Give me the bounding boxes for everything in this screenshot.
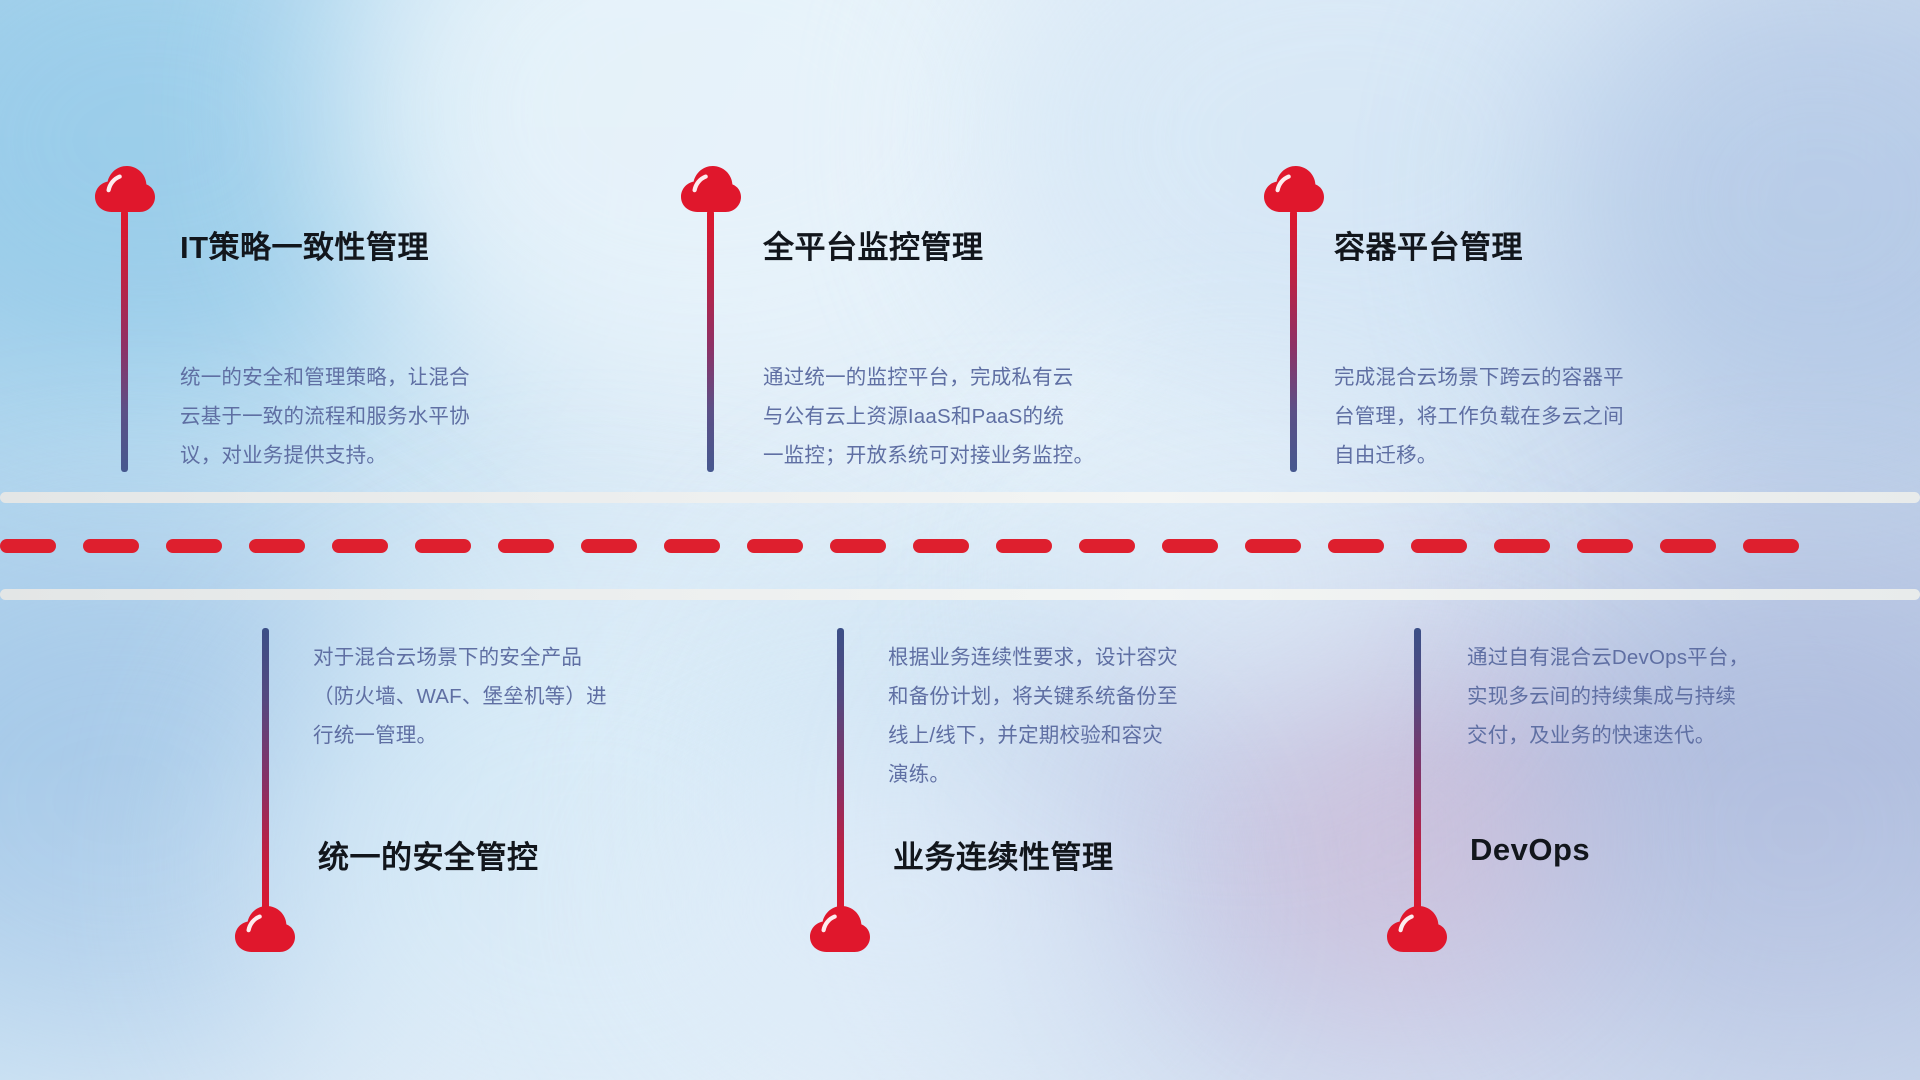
cloud-icon — [234, 905, 296, 953]
road-dash-segment — [1411, 539, 1467, 553]
road-dash-segment — [664, 539, 720, 553]
road-dash-segment — [498, 539, 554, 553]
road-dash-segment — [415, 539, 471, 553]
road-edge-top — [0, 492, 1920, 503]
bottom-item-2: 根据业务连续性要求，设计容灾 和备份计划，将关键系统备份至 线上/线下，并定期校… — [640, 600, 1280, 1080]
top-item-1: IT策略一致性管理 统一的安全和管理策略，让混合 云基于一致的流程和服务水平协 … — [0, 0, 640, 492]
road-dash-segment — [581, 539, 637, 553]
road-edge-bottom — [0, 589, 1920, 600]
bottom-item-3: 通过自有混合云DevOps平台， 实现多云间的持续集成与持续 交付，及业务的快速… — [1220, 600, 1920, 1080]
bottom-item-1-heading: 统一的安全管控 — [318, 832, 539, 877]
top-item-2-body: 通过统一的监控平台，完成私有云 与公有云上资源IaaS和PaaS的统 一监控；开… — [763, 358, 1213, 475]
road-dash-segment — [249, 539, 305, 553]
top-item-2-heading: 全平台监控管理 — [763, 222, 984, 267]
road-dash-segment — [1079, 539, 1135, 553]
road-divider — [0, 492, 1920, 600]
bottom-item-1: 对于混合云场景下的安全产品 （防火墙、WAF、堡垒机等）进 行统一管理。 统一的… — [0, 600, 640, 1080]
road-dash-segment — [1743, 539, 1799, 553]
road-dashed-line — [0, 539, 1920, 553]
road-dash-segment — [0, 539, 56, 553]
connector-stem — [837, 628, 844, 922]
road-dash-segment — [83, 539, 139, 553]
bottom-item-3-heading: DevOps — [1470, 832, 1590, 868]
infographic-canvas: IT策略一致性管理 统一的安全和管理策略，让混合 云基于一致的流程和服务水平协 … — [0, 0, 1920, 1080]
top-item-1-body: 统一的安全和管理策略，让混合 云基于一致的流程和服务水平协 议，对业务提供支持。 — [180, 358, 610, 475]
road-dash-segment — [166, 539, 222, 553]
connector-stem — [1414, 628, 1421, 922]
road-dash-segment — [996, 539, 1052, 553]
road-dash-segment — [1162, 539, 1218, 553]
road-dash-segment — [1660, 539, 1716, 553]
top-item-3-body: 完成混合云场景下跨云的容器平 台管理，将工作负载在多云之间 自由迁移。 — [1334, 358, 1764, 475]
top-item-2: 全平台监控管理 通过统一的监控平台，完成私有云 与公有云上资源IaaS和PaaS… — [640, 0, 1280, 492]
connector-stem — [707, 210, 714, 472]
road-dash-segment — [1494, 539, 1550, 553]
road-dash-segment — [1328, 539, 1384, 553]
connector-stem — [262, 628, 269, 922]
road-dash-segment — [1577, 539, 1633, 553]
connector-stem — [121, 210, 128, 472]
cloud-icon — [1386, 905, 1448, 953]
road-dash-segment — [1245, 539, 1301, 553]
top-item-3: 容器平台管理 完成混合云场景下跨云的容器平 台管理，将工作负载在多云之间 自由迁… — [1220, 0, 1920, 492]
road-dash-segment — [913, 539, 969, 553]
connector-stem — [1290, 210, 1297, 472]
top-item-1-heading: IT策略一致性管理 — [180, 222, 429, 267]
road-dash-segment — [747, 539, 803, 553]
road-dash-segment — [332, 539, 388, 553]
cloud-icon — [809, 905, 871, 953]
cloud-icon — [680, 165, 742, 213]
top-item-3-heading: 容器平台管理 — [1334, 222, 1523, 267]
bottom-item-2-heading: 业务连续性管理 — [893, 832, 1114, 877]
road-dash-segment — [830, 539, 886, 553]
cloud-icon — [94, 165, 156, 213]
bottom-item-3-body: 通过自有混合云DevOps平台， 实现多云间的持续集成与持续 交付，及业务的快速… — [1467, 638, 1897, 755]
cloud-icon — [1263, 165, 1325, 213]
